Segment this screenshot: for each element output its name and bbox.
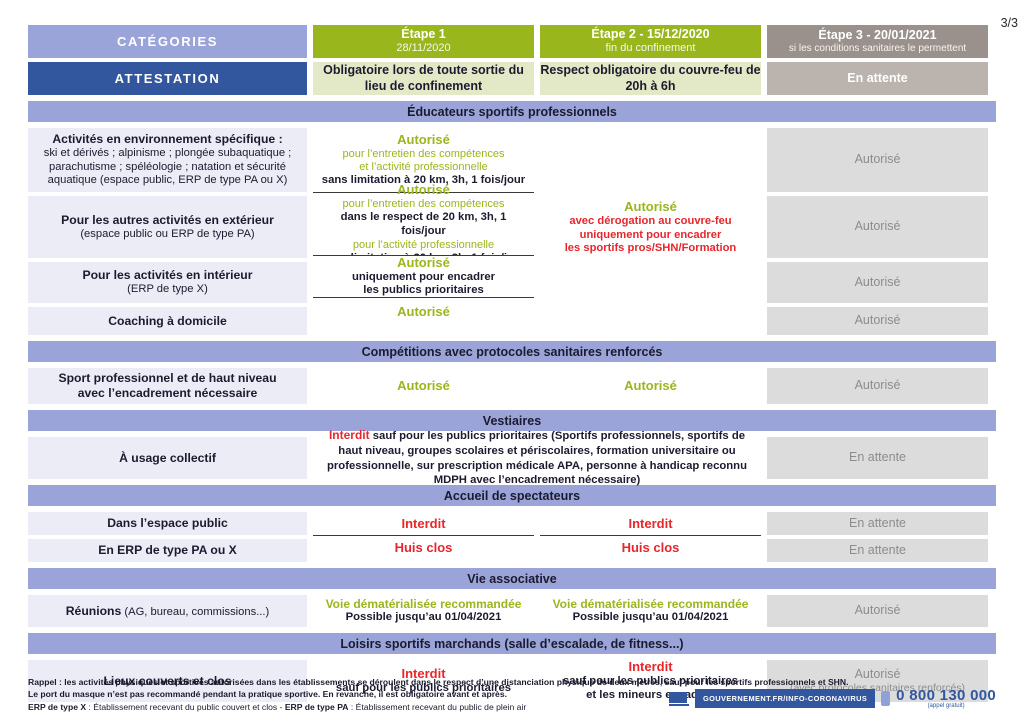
row-env-specifique-title: Activités en environnement spécifique :: [52, 132, 282, 147]
status-text: Autorisé: [855, 219, 901, 234]
section-band-educateurs: Éducateurs sportifs professionnels: [28, 101, 996, 122]
status-text: Huis clos: [622, 540, 680, 556]
detail-line-1: pour l’entretien des compétences: [342, 148, 504, 161]
header-step-1: Étape 1 28/11/2020: [313, 25, 534, 58]
status-text: Autorisé: [397, 182, 450, 198]
attestation-step-2: Respect obligatoire du couvre-feu de 20h…: [540, 62, 761, 95]
status-text: Autorisé: [855, 275, 901, 290]
status-text: Voie dématérialisée recommandée: [553, 597, 749, 612]
row-erp-pa-x-title: En ERP de type PA ou X: [98, 543, 237, 558]
row-reunions-label: Réunions (AG, bureau, commissions...): [28, 595, 307, 627]
cell-coaching-etape1: Autorisé: [313, 298, 534, 326]
educateurs-etape1-column: Autorisé pour l’entretien des compétence…: [313, 128, 534, 335]
page-number: 3/3: [1001, 16, 1018, 30]
status-text: Autorisé: [397, 378, 450, 394]
cell-reunions-etape1: Voie dématérialisée recommandée Possible…: [313, 595, 534, 627]
row-sport-pro-detail: avec l’encadrement nécessaire: [78, 386, 258, 401]
vie-associative-row: Réunions (AG, bureau, commissions...) Vo…: [0, 595, 1024, 627]
footer-erp-x-term: ERP de type X: [28, 702, 86, 712]
cell-erp-pa-x-etape3: En attente: [767, 539, 988, 562]
header-categories-label: CATÉGORIES: [28, 25, 307, 58]
detail-line-2: uniquement pour encadrer: [580, 229, 722, 243]
status-text: Autorisé: [855, 313, 901, 328]
competitions-row: Sport professionnel et de haut niveau av…: [0, 368, 1024, 404]
row-espace-public-title: Dans l’espace public: [107, 516, 228, 531]
spectateurs-etape3-column: En attente En attente: [767, 512, 988, 562]
footer-erp-x-def: : Établissement recevant du public couve…: [86, 702, 285, 712]
step-2-subtitle: fin du confinement: [606, 42, 696, 55]
cell-exterieur-etape1: Autorisé pour l’entretien des compétence…: [313, 193, 534, 255]
cell-reunions-etape2: Voie dématérialisée recommandée Possible…: [540, 595, 761, 627]
cell-erp-pa-x-etape2: Huis clos: [540, 536, 761, 559]
status-text: Interdit: [628, 659, 672, 675]
cell-usage-collectif-etape3: En attente: [767, 437, 988, 479]
cell-educateurs-etape2-merged: Autorisé avec dérogation au couvre-feu u…: [540, 128, 761, 327]
spectateurs-category-column: Dans l’espace public En ERP de type PA o…: [28, 512, 307, 562]
detail-line-1: pour l’entretien des compétences: [342, 198, 504, 211]
cell-reunions-etape3: Autorisé: [767, 595, 988, 627]
row-sport-pro-title: Sport professionnel et de haut niveau: [58, 371, 276, 386]
footer-erp-pa-def: : Établissement recevant du public de pl…: [349, 702, 527, 712]
header-row-categories: CATÉGORIES Étape 1 28/11/2020 Étape 2 - …: [0, 0, 1024, 58]
gov-website-link[interactable]: GOUVERNEMENT.FR/INFO-CORONAVIRUS: [695, 689, 875, 708]
section-band-competitions: Compétitions avec protocoles sanitaires …: [28, 341, 996, 362]
status-text: Huis clos: [395, 540, 453, 556]
status-text: Autorisé: [624, 199, 677, 215]
row-exterieur-label: Pour les autres activités en extérieur (…: [28, 196, 307, 258]
laptop-icon: [669, 692, 689, 706]
row-reunions-detail: (AG, bureau, commissions...): [121, 606, 269, 618]
spectateurs-etape1-column: Interdit Huis clos: [313, 512, 534, 562]
status-text: En attente: [849, 516, 906, 531]
status-text: Autorisé: [855, 603, 901, 618]
header-step-2: Étape 2 - 15/12/2020 fin du confinement: [540, 25, 761, 58]
hotline-number-text: 0 800 130 000: [896, 687, 996, 704]
detail-text: Possible jusqu’au 01/04/2021: [346, 611, 502, 625]
row-reunions-title: Réunions: [66, 604, 122, 618]
cell-coaching-etape3: Autorisé: [767, 307, 988, 335]
step-1-title: Étape 1: [401, 27, 445, 42]
section-band-vie-associative: Vie associative: [28, 568, 996, 589]
row-usage-collectif-label: À usage collectif: [28, 437, 307, 479]
header-step-3: Étape 3 - 20/01/2021 si les conditions s…: [767, 25, 988, 58]
detail-line-3: les sportifs pros/SHN/Formation: [565, 242, 737, 256]
detail-line-3: pour l’activité professionnelle: [353, 239, 494, 252]
status-text: Autorisé: [397, 132, 450, 148]
status-text: Voie dématérialisée recommandée: [326, 597, 522, 612]
spectateurs-etape2-column: Interdit Huis clos: [540, 512, 761, 562]
cell-sport-pro-etape2: Autorisé: [540, 368, 761, 404]
section-band-loisirs: Loisirs sportifs marchands (salle d’esca…: [28, 633, 996, 654]
attestation-step-1: Obligatoire lors de toute sortie du lieu…: [313, 62, 534, 95]
status-text: Autorisé: [624, 378, 677, 394]
attestation-step-3: En attente: [767, 62, 988, 95]
covid-sports-measures-table: 3/3 CATÉGORIES Étape 1 28/11/2020 Étape …: [0, 0, 1024, 724]
detail-text: sauf pour les publics prioritaires (Spor…: [327, 430, 747, 486]
detail-text: Possible jusqu’au 01/04/2021: [573, 611, 729, 625]
status-text: En attente: [849, 450, 906, 465]
footer-contact-bar: GOUVERNEMENT.FR/INFO-CORONAVIRUS 0 800 1…: [669, 688, 996, 709]
status-text: En attente: [849, 543, 906, 558]
step-1-subtitle: 28/11/2020: [396, 42, 450, 55]
hotline-number: 0 800 130 000 (appel gratuit): [896, 688, 996, 709]
row-usage-collectif-title: À usage collectif: [119, 451, 216, 466]
header-attestation-label: ATTESTATION: [28, 62, 307, 95]
row-interieur-detail: (ERP de type X): [127, 283, 208, 297]
status-text: Autorisé: [855, 378, 901, 393]
step-3-subtitle: si les conditions sanitaires le permette…: [789, 43, 966, 55]
merged-text-block: Interdit sauf pour les publics prioritai…: [323, 428, 751, 488]
row-env-specifique-detail: ski et dérivés ; alpinisme ; plongée sub…: [34, 147, 301, 188]
spectateurs-grid: Dans l’espace public En ERP de type PA o…: [0, 512, 1024, 562]
status-text: Interdit: [401, 516, 445, 532]
phone-icon: [881, 691, 890, 706]
cell-espace-public-etape1: Interdit: [313, 512, 534, 535]
header-row-attestation: ATTESTATION Obligatoire lors de toute so…: [0, 62, 1024, 95]
cell-interieur-etape1: Autorisé uniquement pour encadrer les pu…: [313, 256, 534, 297]
detail-line-2: et l’activité professionnelle: [359, 161, 487, 174]
row-env-specifique-label: Activités en environnement spécifique : …: [28, 128, 307, 192]
cell-espace-public-etape3: En attente: [767, 512, 988, 535]
cell-espace-public-etape2: Interdit: [540, 512, 761, 535]
detail-line-1: avec dérogation au couvre-feu: [569, 215, 731, 229]
detail-line-2: dans le respect de 20 km, 3h, 1 fois/jou…: [317, 211, 530, 239]
footer-line-1: Rappel : les activités physiques et spor…: [28, 676, 996, 688]
status-text: Interdit: [628, 516, 672, 532]
educateurs-etape3-column: Autorisé Autorisé Autorisé Autorisé: [767, 128, 988, 335]
status-text: Autorisé: [397, 304, 450, 320]
cell-usage-collectif-merged: Interdit sauf pour les publics prioritai…: [313, 437, 761, 479]
row-espace-public-label: Dans l’espace public: [28, 512, 307, 535]
cell-sport-pro-etape3: Autorisé: [767, 368, 988, 404]
cell-erp-pa-x-etape1: Huis clos: [313, 536, 534, 559]
row-erp-pa-x-label: En ERP de type PA ou X: [28, 539, 307, 562]
row-exterieur-detail: (espace public ou ERP de type PA): [80, 228, 254, 242]
cell-exterieur-etape3: Autorisé: [767, 196, 988, 258]
status-text: Interdit: [329, 428, 370, 442]
row-coaching-label: Coaching à domicile: [28, 307, 307, 335]
step-2-title: Étape 2 - 15/12/2020: [591, 27, 709, 42]
row-sport-pro-label: Sport professionnel et de haut niveau av…: [28, 368, 307, 404]
cell-env-specifique-etape3: Autorisé: [767, 128, 988, 192]
vestiaires-row: À usage collectif Interdit sauf pour les…: [0, 437, 1024, 479]
row-reunions-title-wrap: Réunions (AG, bureau, commissions...): [66, 601, 270, 621]
educateurs-grid: Activités en environnement spécifique : …: [0, 128, 1024, 335]
status-text: Autorisé: [397, 255, 450, 271]
educateurs-category-column: Activités en environnement spécifique : …: [28, 128, 307, 335]
row-exterieur-title: Pour les autres activités en extérieur: [61, 213, 274, 228]
row-interieur-label: Pour les activités en intérieur (ERP de …: [28, 262, 307, 303]
row-interieur-title: Pour les activités en intérieur: [82, 268, 252, 283]
footer-erp-pa-term: ERP de type PA: [285, 702, 349, 712]
cell-interieur-etape3: Autorisé: [767, 262, 988, 303]
status-text: Autorisé: [855, 152, 901, 167]
cell-sport-pro-etape1: Autorisé: [313, 368, 534, 404]
step-3-title: Étape 3 - 20/01/2021: [818, 28, 936, 43]
section-band-spectateurs: Accueil de spectateurs: [28, 485, 996, 506]
detail-line-1: uniquement pour encadrer: [352, 271, 495, 285]
row-coaching-title: Coaching à domicile: [108, 314, 227, 329]
